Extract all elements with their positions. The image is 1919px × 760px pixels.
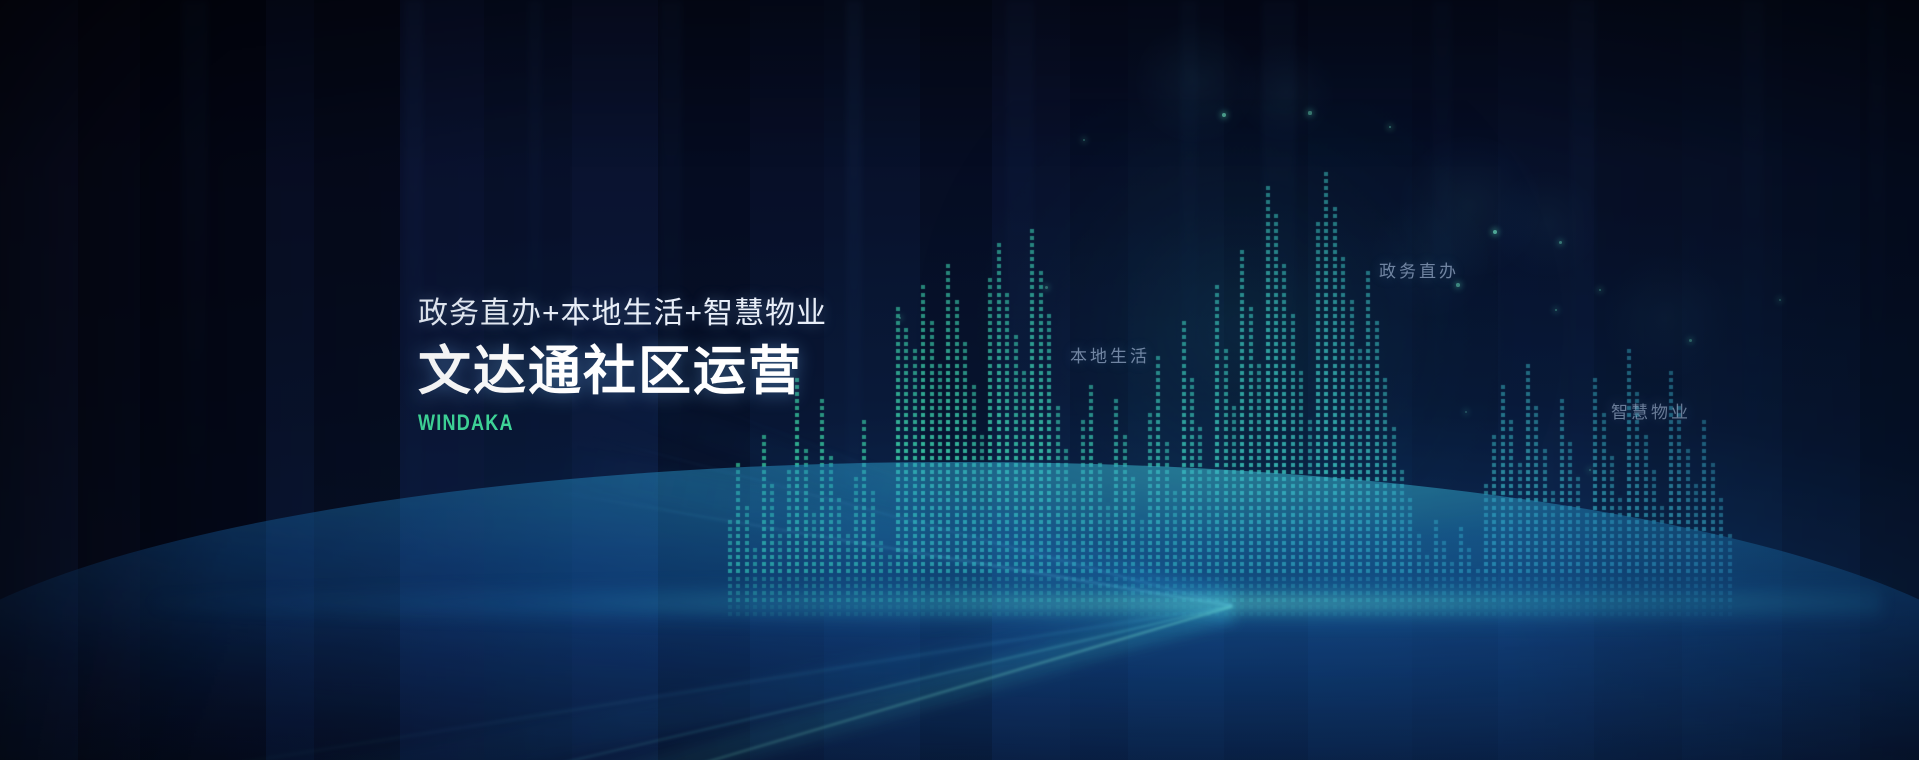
sparkle-dot-10 bbox=[1779, 299, 1782, 302]
sparkle-dot-3 bbox=[1389, 126, 1392, 129]
hero-headline: 文达通社区运营 bbox=[418, 343, 827, 401]
light-beam-9 bbox=[1432, 0, 1452, 480]
city-label-2: 本地生活 bbox=[1070, 342, 1150, 367]
glow-halo-2 bbox=[1238, 44, 1334, 140]
city-label-1: 政务直办 bbox=[1379, 257, 1459, 282]
light-beam-7 bbox=[1180, 0, 1198, 470]
sparkle-dot-13 bbox=[1083, 139, 1086, 142]
sparkle-dot-5 bbox=[1559, 241, 1562, 244]
light-beam-1 bbox=[182, 0, 208, 560]
glow-halo-3 bbox=[1400, 136, 1540, 276]
hero-text-block: 政务直办+本地生活+智慧物业 文达通社区运营 WINDAKA bbox=[418, 295, 827, 436]
sparkle-dot-12 bbox=[899, 317, 902, 320]
hero-subtitle: 政务直办+本地生活+智慧物业 bbox=[418, 295, 827, 333]
light-beam-11 bbox=[1742, 0, 1764, 520]
brand-wordmark: WINDAKA bbox=[418, 410, 753, 436]
sparkle-dot-6 bbox=[1456, 283, 1460, 287]
sparkle-dot-7 bbox=[1555, 309, 1558, 312]
glow-halo-4 bbox=[1494, 172, 1598, 276]
sparkle-dot-2 bbox=[1308, 111, 1311, 114]
glow-halo-6 bbox=[1604, 256, 1728, 380]
sparkle-dot-14 bbox=[1589, 469, 1591, 471]
light-beam-6 bbox=[1006, 0, 1034, 540]
sparkle-dot-9 bbox=[1689, 339, 1692, 342]
light-beam-12 bbox=[1868, 0, 1886, 470]
city-label-3: 智慧物业 bbox=[1611, 398, 1691, 423]
sparkle-dot-8 bbox=[1599, 289, 1601, 291]
light-beam-8 bbox=[1262, 0, 1296, 520]
glow-halo-1 bbox=[1136, 22, 1256, 142]
sparkle-dot-11 bbox=[1045, 286, 1048, 289]
light-beam-10 bbox=[1570, 0, 1596, 560]
sparkle-dot-15 bbox=[1465, 411, 1467, 413]
sparkle-dot-4 bbox=[1493, 230, 1497, 234]
light-beam-3 bbox=[528, 0, 542, 520]
horizon-glow bbox=[154, 580, 1881, 626]
hero-banner: 政务直办本地生活智慧物业 政务直办+本地生活+智慧物业 文达通社区运营 WIND… bbox=[0, 0, 1919, 760]
sparkle-dot-1 bbox=[1222, 113, 1226, 117]
